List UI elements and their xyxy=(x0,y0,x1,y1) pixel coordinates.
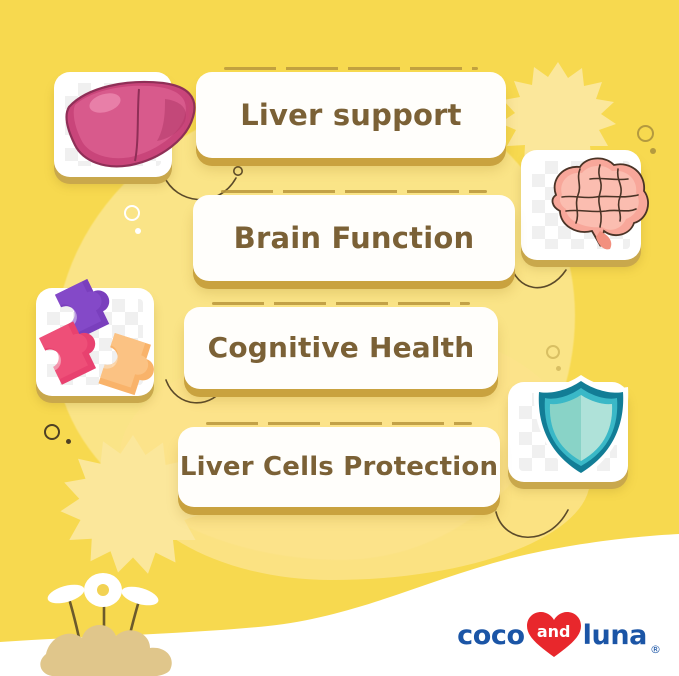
liver-thumb[interactable] xyxy=(54,72,172,177)
benefit-label: Liver support xyxy=(240,101,462,130)
benefit-label: Liver Cells Protection xyxy=(180,454,498,480)
puzzle-icon xyxy=(36,288,154,396)
benefit-card-liver-support[interactable]: Liver support xyxy=(196,72,506,158)
heart-icon: and xyxy=(525,610,583,660)
ring-olive-mid-right xyxy=(546,345,560,359)
shield-thumb[interactable] xyxy=(508,382,628,482)
shield-icon xyxy=(508,382,628,482)
brand-logo[interactable]: coco and luna ® xyxy=(457,610,661,660)
brain-icon xyxy=(521,150,641,260)
benefit-card-cognitive-health[interactable]: Cognitive Health xyxy=(184,307,498,389)
puzzle-thumb[interactable] xyxy=(36,288,154,396)
benefit-card-brain-function[interactable]: Brain Function xyxy=(193,195,515,281)
ring-brown-lower-left xyxy=(44,424,60,440)
benefit-label: Brain Function xyxy=(234,224,475,253)
infographic-canvas: Liver support Brain Function Cognitive H… xyxy=(0,0,679,676)
dot-white-upper-left xyxy=(135,228,141,234)
squiggle-shield-connector xyxy=(486,500,586,560)
benefit-card-liver-cells-protection[interactable]: Liver Cells Protection xyxy=(178,427,500,507)
logo-word-luna: luna xyxy=(583,622,647,649)
logo-heart-word: and xyxy=(525,610,583,660)
flower-bush-decoration xyxy=(30,566,190,676)
registered-mark: ® xyxy=(650,643,661,660)
benefit-label: Cognitive Health xyxy=(208,334,475,362)
ring-white-upper-left xyxy=(124,205,140,221)
logo-word-coco: coco xyxy=(457,622,525,649)
brain-thumb[interactable] xyxy=(521,150,641,260)
ring-olive-upper-right xyxy=(637,125,654,142)
dot-brown-lower-left xyxy=(66,439,71,444)
liver-icon xyxy=(54,72,172,177)
